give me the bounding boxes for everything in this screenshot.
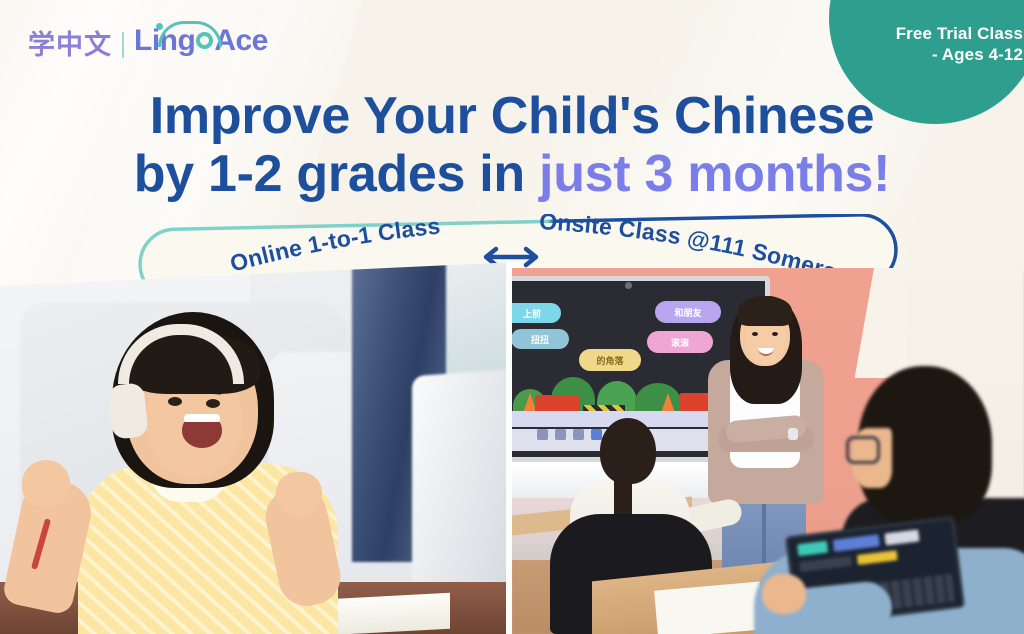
- badge-line-1: Free Trial Class: [896, 23, 1023, 45]
- student-boy-glasses: [846, 436, 880, 464]
- child-eye-right: [206, 399, 220, 408]
- photo-onsite-class: 上前 和朋友 扭扭 滚滚 的角落: [512, 268, 1024, 634]
- badge-line-2: - Ages 4-12: [932, 44, 1023, 66]
- student-worksheet: [654, 581, 764, 634]
- headline-line-2-prefix: by 1-2 grades in: [134, 145, 539, 203]
- teacher-hair-top: [738, 296, 792, 326]
- photo-online-class: [0, 262, 516, 634]
- photo-strip: 上前 和朋友 扭扭 滚滚 的角落: [0, 262, 1024, 634]
- board-taskbar-icon: [537, 429, 548, 440]
- headline-line-1: Improve Your Child's Chinese: [0, 90, 1024, 144]
- child-left-hand: [22, 460, 70, 506]
- student-boy-hand: [762, 574, 806, 614]
- board-taskbar-icon: [573, 429, 584, 440]
- board-taskbar-icon: [555, 429, 566, 440]
- headline-line-2-accent: just 3 months!: [539, 145, 890, 203]
- tablet-ui-cell: [857, 550, 898, 565]
- logo-divider: [122, 32, 124, 58]
- board-word-bubble: 上前: [512, 303, 561, 323]
- logo-wordmark: Ling Ace: [134, 26, 268, 64]
- child-eye-left: [168, 397, 182, 406]
- board-word-bubble: 滚滚: [647, 331, 713, 353]
- whiteboard-camera-icon: [625, 282, 632, 289]
- brand-logo[interactable]: 学中文 Ling Ace: [28, 26, 268, 64]
- board-taskbar-icon: [591, 429, 602, 440]
- logo-chinese-text: 学中文: [28, 32, 112, 59]
- child-teeth: [184, 414, 220, 422]
- tablet-ui-cell: [797, 541, 828, 557]
- child-right-hand: [276, 472, 322, 516]
- tablet-ui-cell: [833, 534, 880, 552]
- headphones-earcup-icon: [107, 382, 148, 439]
- tablet-ui-cell: [884, 529, 919, 545]
- board-word-bubble: 和朋友: [655, 301, 721, 323]
- logo-ace-text: Ace: [214, 26, 268, 56]
- board-word-bubble: 扭扭: [512, 329, 569, 349]
- page-title: Improve Your Child's Chinese by 1-2 grad…: [0, 90, 1024, 201]
- promo-banner: 学中文 Ling Ace Free Trial Class - Ages 4-1…: [0, 0, 1024, 634]
- teacher-wristwatch: [788, 428, 798, 440]
- tablet-ui-cell: [799, 556, 852, 572]
- headline-line-2: by 1-2 grades in just 3 months!: [0, 148, 1024, 202]
- teacher-eye-right: [772, 332, 778, 336]
- teacher-eye-left: [752, 332, 758, 336]
